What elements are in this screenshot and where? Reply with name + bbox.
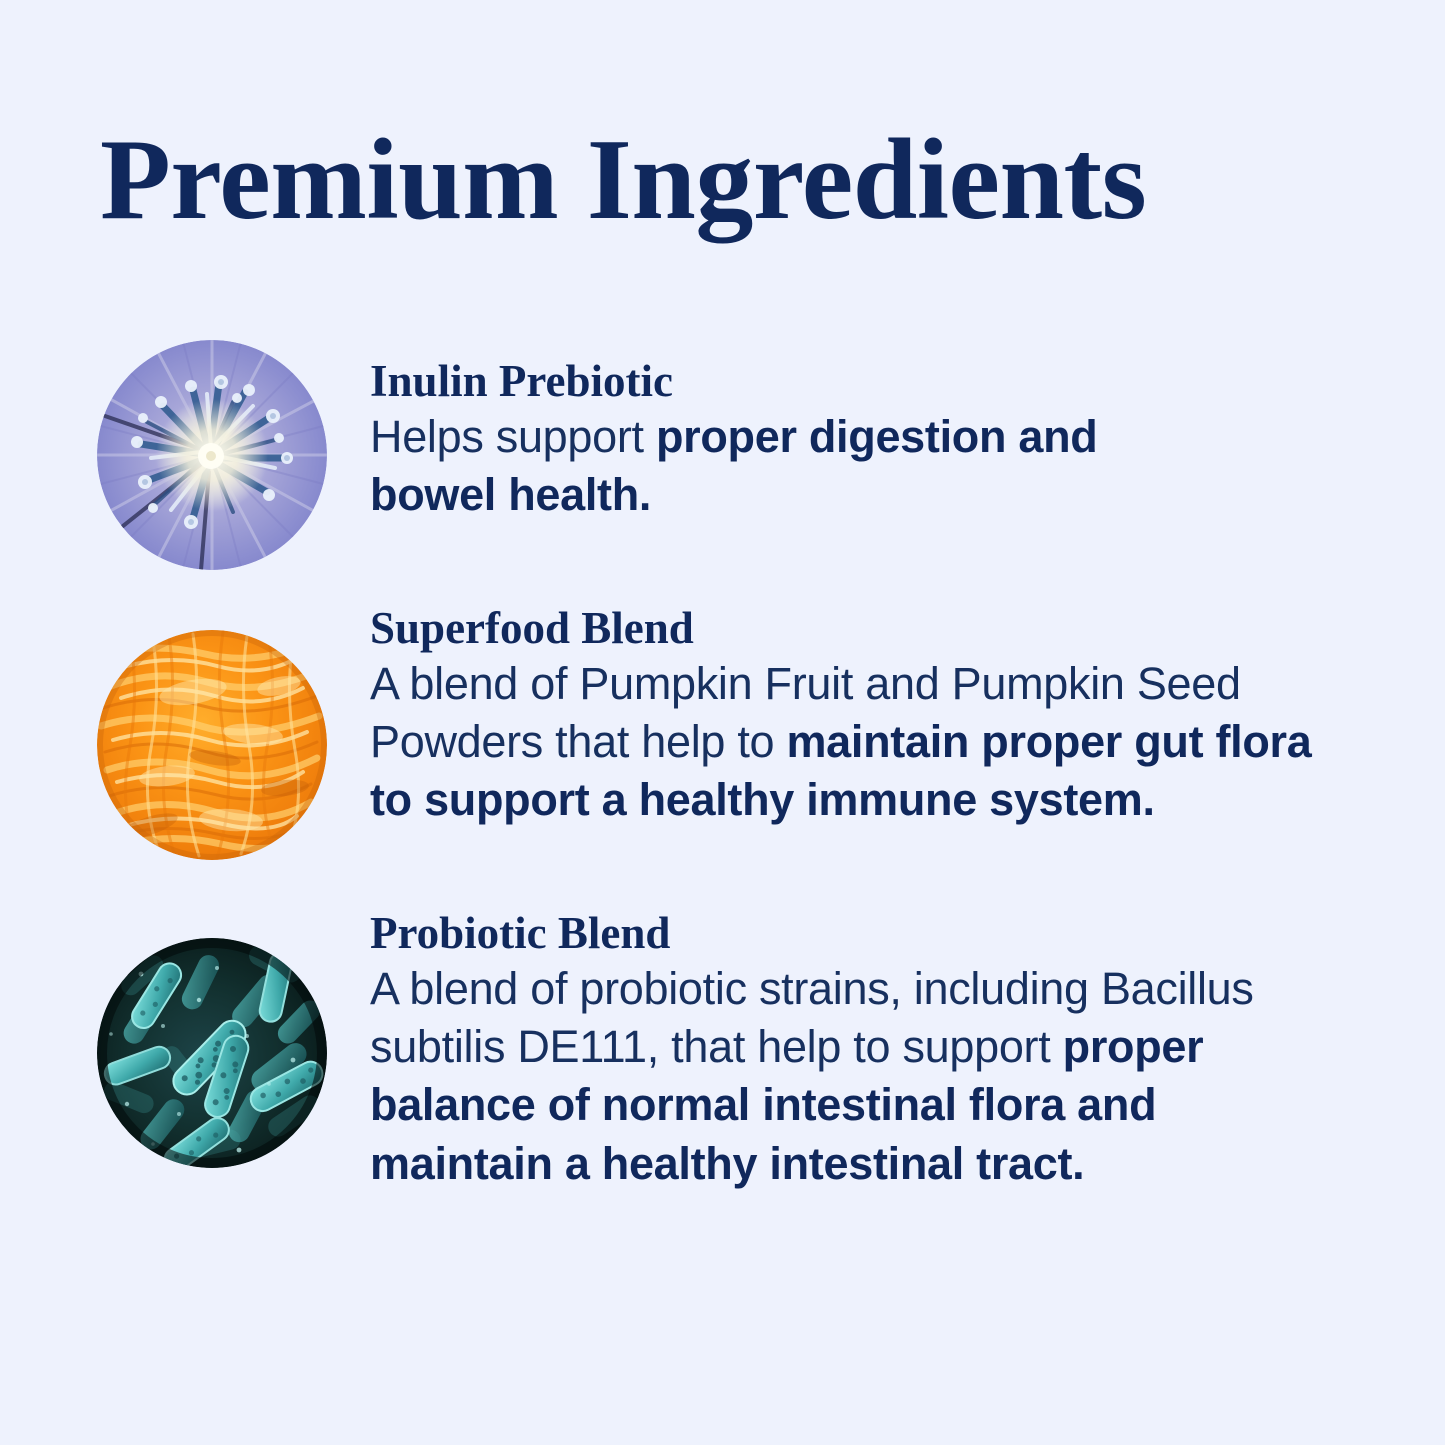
ingredient-description: Helps support proper digestion and bowel…	[370, 408, 1160, 524]
chicory-flower-image	[97, 340, 327, 570]
ingredient-text-block: Superfood Blend A blend of Pumpkin Fruit…	[370, 603, 1310, 830]
page-title: Premium Ingredients	[100, 122, 1146, 238]
probiotic-bacteria-image	[97, 938, 327, 1168]
premium-ingredients-panel: Premium Ingredients	[0, 0, 1445, 1445]
ingredient-name: Superfood Blend	[370, 603, 1310, 653]
ingredient-description: A blend of Pumpkin Fruit and Pumpkin See…	[370, 655, 1315, 829]
ingredient-text-block: Probiotic Blend A blend of probiotic str…	[370, 908, 1310, 1193]
ingredient-description: A blend of probiotic strains, including …	[370, 960, 1300, 1192]
ingredient-name: Probiotic Blend	[370, 908, 1310, 958]
ingredient-text-block: Inulin Prebiotic Helps support proper di…	[370, 356, 1310, 524]
ingredient-description-normal: Helps support	[370, 411, 656, 462]
ingredient-name: Inulin Prebiotic	[370, 356, 1310, 406]
pumpkin-flesh-image	[97, 630, 327, 860]
